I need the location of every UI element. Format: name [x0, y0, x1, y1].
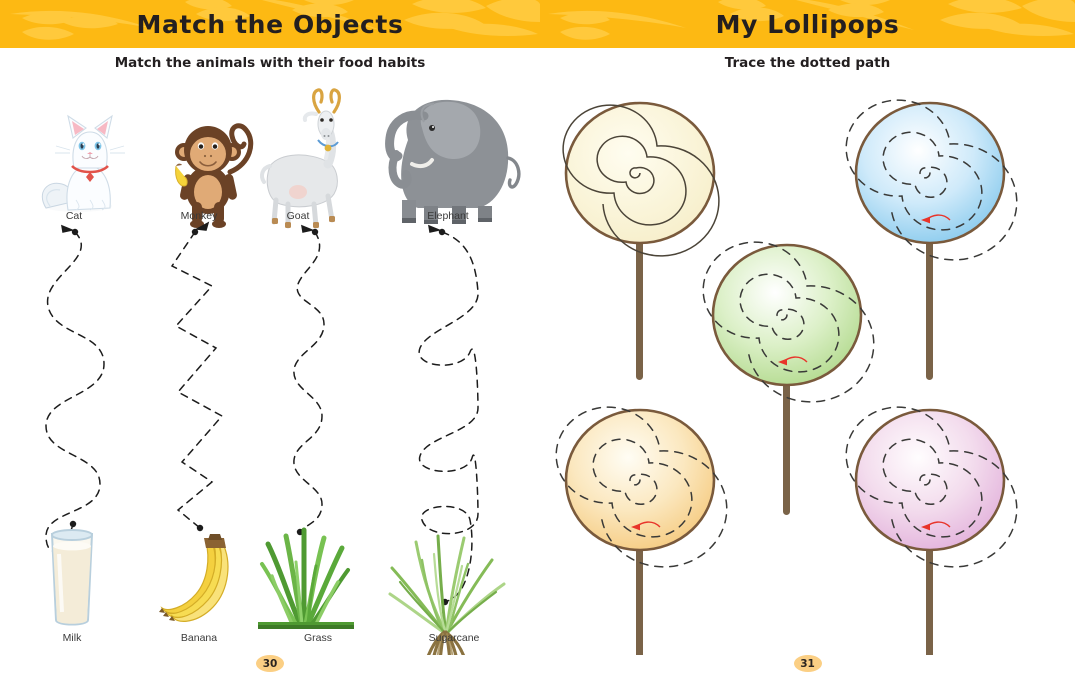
page-number-right: 31 [794, 655, 822, 672]
page-number-left: 30 [256, 655, 284, 672]
trace-arrow-elephant [429, 226, 439, 232]
food-label-grass: Grass [304, 632, 332, 644]
left-header-band: Match the Objects [0, 0, 540, 48]
animal-label-goat: Goat [287, 210, 310, 222]
trace-arrow-cat [62, 226, 72, 232]
goat-icon [262, 90, 339, 228]
food-label-banana: Banana [181, 632, 217, 644]
cat-icon [42, 116, 125, 212]
animal-label-elephant: Elephant [427, 210, 469, 222]
left-page-subtitle: Match the animals with their food habits [0, 55, 540, 71]
trace-arrow-goat [302, 226, 312, 232]
left-page-title: Match the Objects [0, 0, 540, 48]
lollipop-activity-area [540, 80, 1075, 650]
pink-lollipop [846, 407, 1017, 655]
right-page-title: My Lollipops [540, 0, 1075, 48]
left-page: Match the Objects Match the animals with… [0, 0, 540, 700]
right-page: My Lollipops Trace the dotted path [540, 0, 1075, 700]
grass-icon [258, 530, 354, 629]
trace-path-cat [46, 232, 104, 551]
banana-bunch-icon [159, 534, 228, 621]
animal-label-monkey: Monkey [181, 210, 219, 222]
blue-lollipop [846, 100, 1017, 380]
right-page-subtitle: Trace the dotted path [540, 55, 1075, 71]
trace-end-dot-monkey [197, 525, 203, 531]
trace-path-goat [294, 232, 324, 532]
trace-end-dot-cat [70, 521, 76, 527]
elephant-icon [390, 100, 519, 224]
right-header-band: My Lollipops [540, 0, 1075, 48]
milk-glass-icon [52, 530, 92, 625]
trace-path-monkey [172, 232, 222, 528]
food-label-milk: Milk [63, 632, 82, 644]
orange-lollipop [556, 407, 727, 655]
cream-lollipop [563, 103, 719, 380]
green-lollipop [703, 242, 874, 515]
workbook-spread: Match the Objects Match the animals with… [0, 0, 1075, 700]
food-label-sugarcane: Sugarcane [429, 632, 480, 644]
trace-path-elephant [419, 232, 478, 602]
animal-label-cat: Cat [66, 210, 82, 222]
match-activity-area: Cat [0, 80, 540, 650]
